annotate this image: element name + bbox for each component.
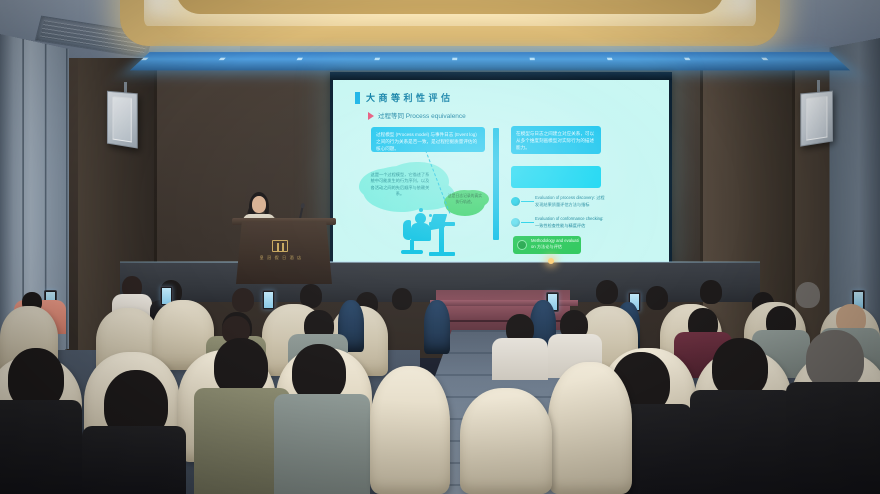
slide-figure-chair-back <box>403 220 411 240</box>
chair-aisle-center <box>460 388 552 494</box>
screen-surface: 大 商 等 利 性 评 估 过程等同 Process equivalence 过… <box>333 80 669 262</box>
torso-near-2 <box>82 426 186 494</box>
torso-near-1 <box>0 400 82 494</box>
torso-near-7 <box>786 382 880 494</box>
conference-hall-photo: 大 商 等 利 性 评 估 过程等同 Process equivalence 过… <box>0 0 880 494</box>
slide-bullet-2-leader <box>521 222 534 223</box>
presenter-head <box>252 196 266 213</box>
head-far-6 <box>392 288 412 310</box>
slide-text-box-a: 过程模型 (Process model) 与事件日志 (Event log) 之… <box>371 127 485 152</box>
slide-figure-desk-leg <box>439 226 444 254</box>
slide-thought-cloud-text: 这是一个过程模型，它描述了系统中可能发生的行为序列，以及各活动之间的先后顺序与依… <box>369 172 431 197</box>
slide-bullet-1-text: Evaluation of process discovery: 过程发现结果质… <box>535 195 607 208</box>
slide-bullet-1-leader <box>521 201 534 202</box>
phone-recording-3 <box>262 290 275 310</box>
slide-divider <box>493 128 499 240</box>
slide-text-box-c <box>511 166 601 188</box>
loudspeaker-right <box>800 91 833 147</box>
chair-mid-blue-2 <box>424 300 450 354</box>
slide-bullet-2-icon <box>511 218 520 227</box>
head-far-10 <box>796 282 820 308</box>
head-far-8 <box>646 286 668 310</box>
slide-thought-dot-large <box>419 208 423 212</box>
slide-title-accent-bar <box>355 92 360 104</box>
stage-edge-highlight <box>120 261 760 263</box>
podium <box>236 222 332 284</box>
slide-green-callout-text: Methodology and evaluation 方法论与评估 <box>531 238 579 251</box>
podium-hotel-name: 皇 冠 假 日 酒 店 <box>250 255 312 261</box>
slide-green-cloud-text: 这是日志记录的真实执行轨迹。 <box>447 194 483 205</box>
head-far-7 <box>596 280 618 304</box>
torso-mid-4 <box>492 338 548 380</box>
slide-text-box-b: 在模型与日志之间建立对应关系，可以从多个维度刻画模型对实际行为的描述能力。 <box>511 126 601 154</box>
torso-near-4 <box>274 394 370 494</box>
blue-ceiling-light-strip <box>130 52 850 70</box>
head-far-9 <box>700 280 722 304</box>
chair-aisle-right <box>548 362 632 494</box>
speaker-bracket-right <box>817 80 820 92</box>
slide-bullet-triangle-icon <box>368 112 374 120</box>
slide-figure-chair-base <box>401 250 423 254</box>
loudspeaker-left <box>107 91 138 149</box>
ceiling-light-cove-mid <box>176 0 724 14</box>
head-far-3 <box>232 288 254 312</box>
hotel-emblem-icon <box>272 240 288 252</box>
slide-bullet-2-text: Evaluation of conformance checking: 一致性检… <box>535 216 607 229</box>
slide-title: 大 商 等 利 性 评 估 <box>366 91 451 104</box>
target-icon <box>517 240 527 250</box>
projection-screen: 大 商 等 利 性 评 估 过程等同 Process equivalence 过… <box>330 72 672 266</box>
slide-subtitle: 过程等同 Process equivalence <box>378 110 466 120</box>
slide-figure-desk-foot <box>429 252 455 256</box>
stage-spotlight <box>548 258 554 264</box>
screen-top-casing <box>330 72 672 80</box>
torso-near-6 <box>690 390 792 494</box>
slide-bullet-1-icon <box>511 197 520 206</box>
head-near-6 <box>712 338 768 398</box>
presentation-slide: 大 商 等 利 性 评 估 过程等同 Process equivalence 过… <box>333 80 669 262</box>
head-near-7 <box>806 330 864 390</box>
chair-aisle-left <box>370 366 450 494</box>
